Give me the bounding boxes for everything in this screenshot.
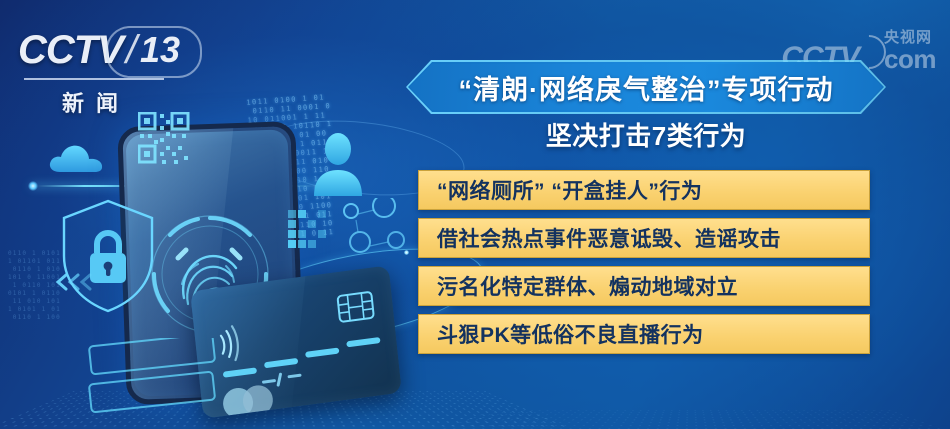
cctv-logo-number: 13 [140, 32, 180, 68]
perspective-dot-grid-right [380, 409, 950, 429]
watermark-chinese-text: 央视网 [884, 30, 936, 45]
page-title: “清朗·网络戾气整治”专项行动 [459, 68, 834, 107]
broadcast-graphic: 1011 0100 1 01 0110 11 0001 0 10 011001 … [0, 0, 950, 429]
list-item-label: 斗狠PK等低俗不良直播行为 [437, 319, 704, 349]
network-nodes-icon [338, 198, 410, 260]
cctv-13-logo: CCTV / 13 新闻 [18, 30, 198, 70]
list-item: 借社会热点事件恶意诋毁、造谣攻击 [418, 218, 870, 258]
list-item-label: 借社会热点事件恶意诋毁、造谣攻击 [437, 223, 781, 253]
sparkle-dot [404, 250, 409, 255]
watermark-com-text: com [884, 46, 936, 72]
light-beam-endpoint [28, 181, 38, 191]
credit-card-icon [190, 265, 402, 418]
list-item: 斗狠PK等低俗不良直播行为 [418, 314, 870, 354]
list-item: 污名化特定群体、煽动地域对立 [418, 266, 870, 306]
cloud-icon [46, 138, 106, 176]
cctv-logo-underline [24, 78, 164, 80]
title-banner: “清朗·网络戾气整治”专项行动 [410, 64, 882, 110]
user-avatar-icon [310, 132, 366, 196]
cctv-logo-slash: / [126, 30, 137, 70]
page-subtitle: 坚决打击7类行为 [410, 116, 882, 153]
cctv-logo-chinese-label: 新闻 [62, 86, 130, 118]
list-item: “网络厕所” “开盒挂人”行为 [418, 170, 870, 210]
contactless-icon [220, 326, 239, 362]
card-chip [337, 292, 373, 322]
violation-list: “网络厕所” “开盒挂人”行为 借社会热点事件恶意诋毁、造谣攻击 污名化特定群体… [418, 170, 870, 362]
chevrons-icon [54, 272, 94, 292]
cctv-logo-pill-outline [106, 26, 202, 78]
cctv-logo-word: CCTV [18, 30, 123, 70]
list-item-label: 污名化特定群体、煽动地域对立 [437, 271, 738, 301]
list-item-label: “网络厕所” “开盒挂人”行为 [437, 175, 702, 205]
